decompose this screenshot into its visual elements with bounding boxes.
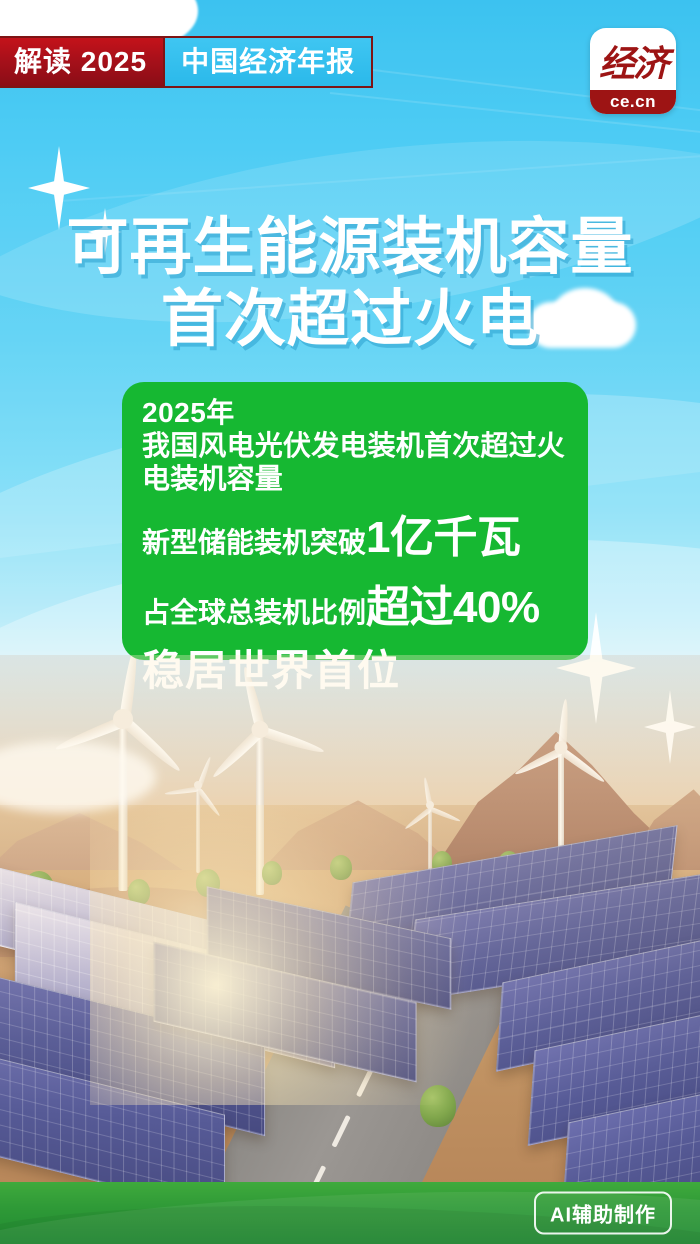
ai-assisted-badge: AI辅助制作	[534, 1192, 672, 1235]
logo-calligraphy-mark: 经济	[590, 28, 676, 90]
turbine-blade	[197, 787, 222, 817]
renewable-energy-photo	[0, 655, 700, 1184]
turbine-hub	[252, 721, 269, 738]
site-logo[interactable]: 经济 ce.cn	[590, 28, 676, 114]
page-title: 可再生能源装机容量 首次超过火电	[0, 212, 700, 356]
topic-banner: 解读 2025 中国经济年报	[0, 36, 373, 88]
stats-row-storage: 新型储能装机突破 1亿千瓦	[142, 501, 568, 565]
banner-blue-section: 中国经济年报	[163, 38, 371, 86]
tree	[262, 861, 282, 885]
logo-domain-label: ce.cn	[590, 90, 676, 114]
stats-row-share-prefix: 占全球总装机比例	[142, 591, 366, 631]
turbine-blade	[164, 787, 198, 797]
footer-bar: AI辅助制作	[0, 1182, 700, 1244]
tree	[420, 1085, 456, 1127]
turbine-blade	[430, 807, 462, 824]
title-line-1: 可再生能源装机容量	[0, 212, 700, 284]
stats-row-share: 占全球总装机比例 超过40%	[142, 571, 568, 635]
turbine-hub	[194, 781, 202, 789]
stats-body-line-2: 电装机容量	[142, 462, 568, 495]
banner-red-label: 解读 2025	[14, 48, 147, 76]
stats-row-storage-value: 1亿千瓦	[366, 501, 520, 565]
infographic-poster: 解读 2025 中国经济年报 经济 ce.cn 可再生能源装机容量 首次超过火电…	[0, 0, 700, 1244]
stats-year: 2025年	[142, 396, 568, 429]
turbine-blade	[259, 726, 325, 756]
tree	[330, 855, 352, 880]
turbine-hub	[426, 801, 434, 809]
stats-row-storage-prefix: 新型储能装机突破	[142, 521, 366, 561]
stats-row-share-value: 超过40%	[366, 571, 540, 635]
wind-turbine	[168, 763, 228, 873]
turbine-hub	[555, 741, 568, 754]
road-dash	[331, 1115, 350, 1148]
stats-card: 2025年 我国风电光伏发电装机首次超过火 电装机容量 新型储能装机突破 1亿千…	[122, 382, 588, 660]
turbine-pole	[196, 785, 200, 873]
turbine-hub	[113, 709, 133, 729]
turbine-blade	[560, 748, 607, 785]
title-line-2: 首次超过火电	[0, 284, 700, 356]
stats-body-line-1: 我国风电光伏发电装机首次超过火	[142, 429, 568, 462]
banner-red-section: 解读 2025	[0, 38, 163, 86]
sky-streak-decoration	[60, 151, 700, 202]
banner-blue-label: 中国经济年报	[181, 48, 355, 76]
stats-conclusion: 稳居世界首位	[142, 637, 568, 698]
